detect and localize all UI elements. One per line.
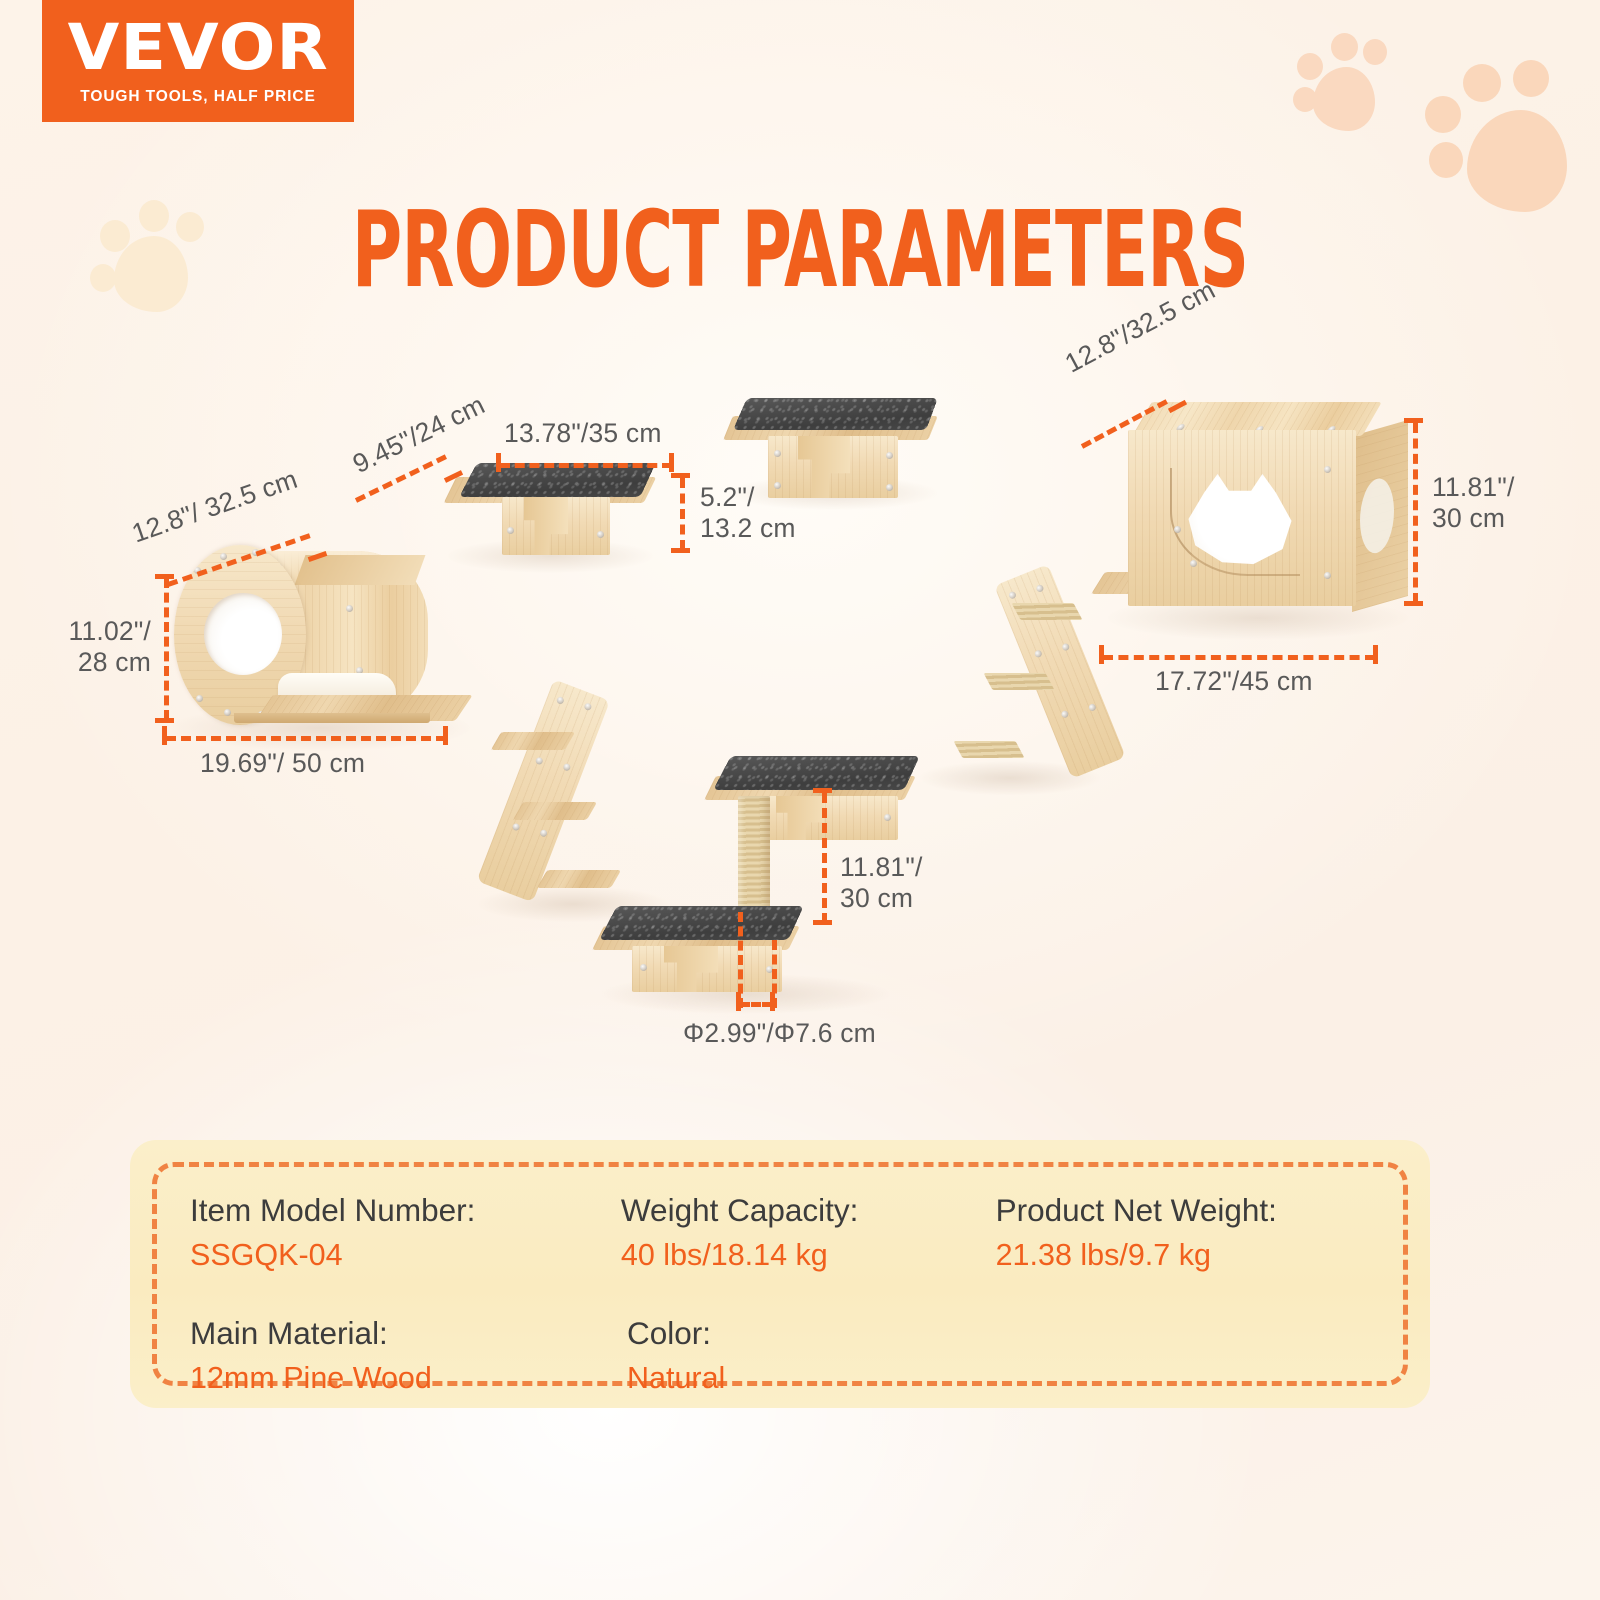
platform-carpet-pad-upper bbox=[713, 756, 919, 790]
dim-line bbox=[1103, 655, 1375, 660]
spec-value: 12mm Pine Wood bbox=[190, 1361, 627, 1396]
specs-row: Main Material: 12mm Pine Wood Color: Nat… bbox=[190, 1315, 1390, 1396]
specs-row: Item Model Number: SSGQK-04 Weight Capac… bbox=[190, 1192, 1390, 1273]
spec-key: Weight Capacity: bbox=[621, 1192, 996, 1229]
spec-key: Product Net Weight: bbox=[996, 1192, 1390, 1229]
spec-value: Natural bbox=[627, 1361, 1007, 1396]
spec-value: 40 lbs/18.14 kg bbox=[621, 1238, 996, 1273]
specs-panel: Item Model Number: SSGQK-04 Weight Capac… bbox=[130, 1140, 1430, 1408]
dim-line bbox=[166, 736, 446, 741]
dim-line bbox=[500, 463, 672, 468]
spec-product-net-weight: Product Net Weight: 21.38 lbs/9.7 kg bbox=[996, 1192, 1390, 1273]
spec-item-model-number: Item Model Number: SSGQK-04 bbox=[190, 1192, 621, 1273]
dim-line bbox=[822, 793, 827, 923]
brand-tagline: TOUGH TOOLS, HALF PRICE bbox=[80, 88, 315, 106]
spec-key: Item Model Number: bbox=[190, 1192, 621, 1229]
dim-line bbox=[164, 578, 169, 720]
spec-weight-capacity: Weight Capacity: 40 lbs/18.14 kg bbox=[621, 1192, 996, 1273]
platform-carpet-pad-lower bbox=[599, 906, 803, 940]
spec-value: SSGQK-04 bbox=[190, 1238, 621, 1273]
cat-tunnel bbox=[160, 545, 510, 745]
spec-value: 21.38 lbs/9.7 kg bbox=[996, 1238, 1390, 1273]
page-title: PRODUCT PARAMETERS bbox=[112, 188, 1488, 311]
spec-main-material: Main Material: 12mm Pine Wood bbox=[190, 1315, 627, 1396]
brand-wordmark: VEVOR bbox=[67, 16, 328, 79]
shelf-carpet-pad bbox=[733, 398, 938, 430]
dim-line bbox=[1413, 423, 1418, 603]
spec-key: Main Material: bbox=[190, 1315, 627, 1352]
step-ladder-right bbox=[920, 575, 1130, 795]
vevor-logo: VEVOR TOUGH TOOLS, HALF PRICE bbox=[42, 0, 354, 122]
cat-house-cube bbox=[1098, 400, 1428, 650]
wall-shelf-carpet-left bbox=[440, 455, 670, 565]
shelf-carpet-pad bbox=[459, 463, 655, 497]
spec-key: Color: bbox=[627, 1315, 1007, 1352]
spec-color: Color: Natural bbox=[627, 1315, 1007, 1396]
dim-line bbox=[680, 478, 685, 550]
dim-line bbox=[740, 1002, 772, 1007]
